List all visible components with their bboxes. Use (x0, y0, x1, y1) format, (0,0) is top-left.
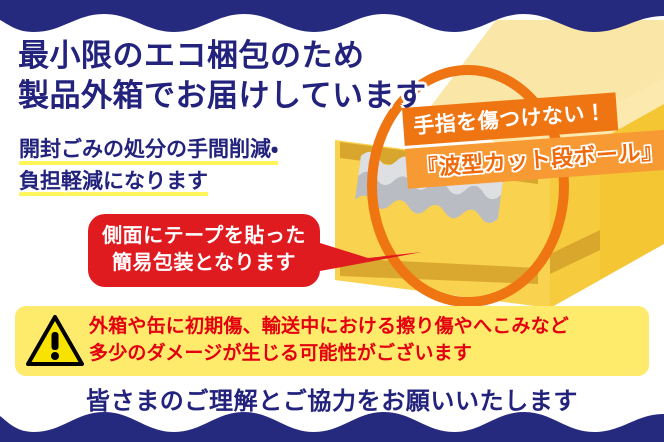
subheading-line-2: 負担軽減になります (19, 166, 208, 198)
warning-line-2: 多少のダメージが生じる可能性がございます (89, 341, 643, 368)
warning-line-1: 外箱や缶に初期傷、輸送中における擦り傷やへこみなど (89, 314, 643, 341)
closing-message: 皆さまのご理解とご協力をお願いいたします (0, 381, 664, 416)
heading-line-2: 製品外箱でお届けしています (18, 76, 427, 116)
heading-line-1: 最小限のエコ梱包のため (18, 36, 427, 76)
subheading-line-1: 開封ごみの処分の手間削減・ (19, 134, 278, 166)
damage-warning-text: 外箱や缶に初期傷、輸送中における擦り傷やへこみなど 多少のダメージが生じる可能性… (89, 314, 649, 368)
eco-packaging-notice-banner: 最小限のエコ梱包のため 製品外箱でお届けしています 開封ごみの処分の手間削減・ … (0, 0, 664, 442)
red-callout-line-2: 簡易包装となります (98, 250, 310, 277)
damage-warning-box: 外箱や缶に初期傷、輸送中における擦り傷やへこみなど 多少のダメージが生じる可能性… (15, 306, 649, 376)
side-tape-callout: 側面にテープを貼った 簡易包装となります (88, 214, 320, 287)
subheading: 開封ごみの処分の手間削減・ 負担軽減になります (19, 134, 278, 197)
side-tape-callout-body: 側面にテープを貼った 簡易包装となります (88, 214, 320, 287)
warning-triangle-icon (25, 314, 85, 368)
page-title: 最小限のエコ梱包のため 製品外箱でお届けしています (18, 36, 427, 117)
red-callout-line-1: 側面にテープを貼った (98, 223, 310, 250)
